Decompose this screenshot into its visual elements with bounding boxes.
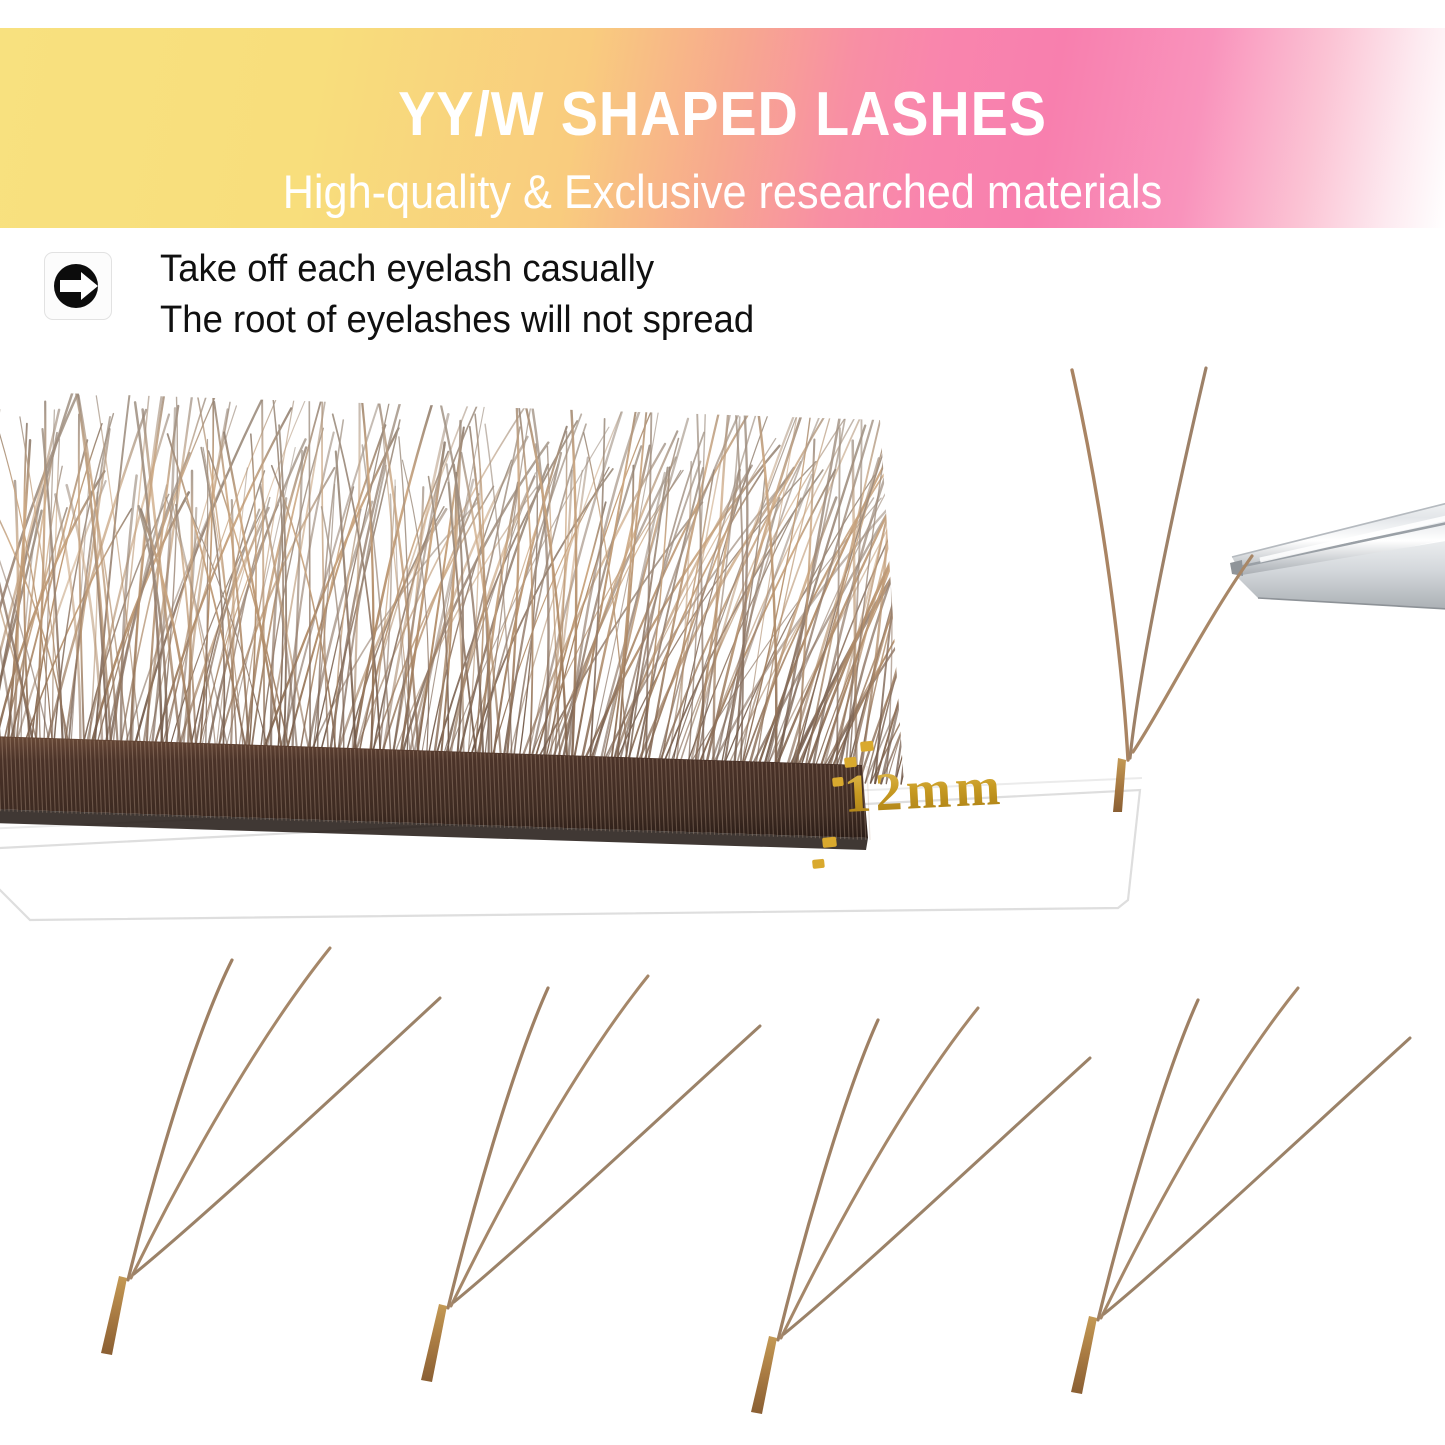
instruction-line-2: The root of eyelashes will not spread: [160, 295, 754, 346]
lash-fiber: [865, 383, 1099, 783]
lash-fiber: [733, 373, 747, 778]
lash-fiber: [901, 489, 990, 784]
lash-fiber: [506, 371, 519, 770]
bottom-fan-row: [101, 948, 1410, 1414]
instruction-text: Take off each eyelash casually The root …: [160, 244, 754, 346]
lash-fiber: [895, 407, 1046, 784]
lash-fan-2: [421, 976, 760, 1382]
instruction-block: Take off each eyelash casually The root …: [44, 250, 824, 356]
tray-size-label-text: 12mm: [842, 756, 1005, 824]
lash-fiber: [112, 382, 151, 758]
lash-fiber: [262, 394, 264, 762]
lash-fan-1: [101, 948, 440, 1355]
lash-fiber-field: [0, 360, 1099, 784]
product-photo-illustration: 12mm: [0, 360, 1445, 1445]
lash-fiber: [895, 407, 957, 784]
lash-fan-3: [751, 1008, 1090, 1414]
lash-fiber: [771, 366, 962, 779]
lash-fiber: [871, 467, 1056, 783]
lash-fiber: [881, 403, 1087, 783]
lash-fiber: [901, 489, 924, 784]
tray-size-label: 12mm: [842, 756, 1005, 824]
lash-fiber: [309, 400, 310, 764]
lash-fan-4: [1071, 988, 1410, 1394]
held-lash-fan: [1072, 368, 1252, 812]
arrow-badge: [44, 252, 112, 320]
instruction-line-1: Take off each eyelash casually: [160, 244, 754, 295]
lash-fiber: [881, 403, 970, 783]
lash-tweezers: [1230, 490, 1445, 612]
product-infographic-page: YY/W SHAPED LASHES High-quality & Exclus…: [0, 0, 1445, 1445]
arrow-right-circle-icon: [45, 253, 111, 319]
page-subtitle: High-quality & Exclusive researched mate…: [58, 168, 1387, 215]
page-title: YY/W SHAPED LASHES: [72, 84, 1373, 146]
header-banner: YY/W SHAPED LASHES High-quality & Exclus…: [0, 28, 1445, 228]
lash-fiber: [886, 462, 1009, 784]
product-photo: 12mm: [0, 360, 1445, 1445]
lash-fiber: [865, 383, 1000, 783]
